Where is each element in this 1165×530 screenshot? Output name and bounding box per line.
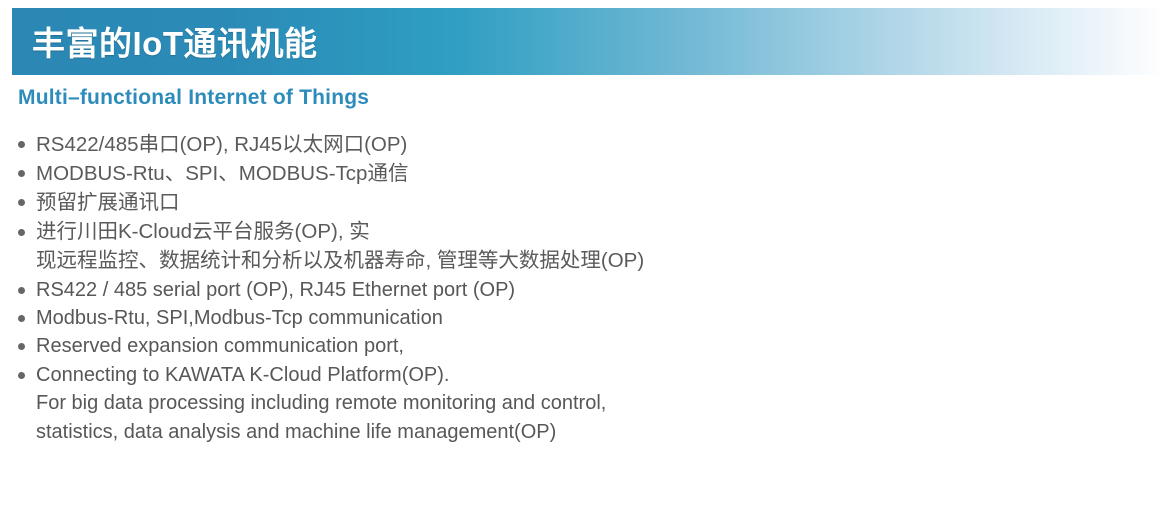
list-item-text: Connecting to KAWATA K-Cloud Platform(OP… xyxy=(36,361,1154,389)
bullet-dot-icon xyxy=(18,229,25,236)
slide-root: 丰富的IoT通讯机能 Multi–functional Internet of … xyxy=(0,0,1165,530)
list-item: RS422 / 485 serial port (OP), RJ45 Ether… xyxy=(14,276,1154,304)
feature-bullet-list: RS422/485串口(OP), RJ45以太网口(OP)MODBUS-Rtu、… xyxy=(14,130,1154,446)
page-title: 丰富的IoT通讯机能 xyxy=(32,17,317,65)
list-item: 进行川田K-Cloud云平台服务(OP), 实现远程监控、数据统计和分析以及机器… xyxy=(14,217,1154,275)
bullet-dot-icon xyxy=(18,141,25,148)
list-item-text: RS422/485串口(OP), RJ45以太网口(OP) xyxy=(36,130,1154,159)
list-item-continuation: statistics, data analysis and machine li… xyxy=(36,418,1154,446)
bullet-dot-icon xyxy=(18,287,25,294)
list-item-continuation: For big data processing including remote… xyxy=(36,389,1154,417)
list-item-text: 预留扩展通讯口 xyxy=(36,188,1154,217)
bullet-dot-icon xyxy=(18,170,25,177)
bullet-dot-icon xyxy=(18,343,25,350)
list-item-text: 进行川田K-Cloud云平台服务(OP), 实 xyxy=(36,217,1154,246)
list-item: Connecting to KAWATA K-Cloud Platform(OP… xyxy=(14,361,1154,446)
list-item: MODBUS-Rtu、SPI、MODBUS-Tcp通信 xyxy=(14,159,1154,188)
list-item: RS422/485串口(OP), RJ45以太网口(OP) xyxy=(14,130,1154,159)
list-item: Reserved expansion communication port, xyxy=(14,332,1154,360)
list-item-text: RS422 / 485 serial port (OP), RJ45 Ether… xyxy=(36,276,1154,304)
list-item: Modbus-Rtu, SPI,Modbus-Tcp communication xyxy=(14,304,1154,332)
header-banner: 丰富的IoT通讯机能 xyxy=(12,8,1165,75)
list-item-text: MODBUS-Rtu、SPI、MODBUS-Tcp通信 xyxy=(36,159,1154,188)
list-item-text: Modbus-Rtu, SPI,Modbus-Tcp communication xyxy=(36,304,1154,332)
bullet-dot-icon xyxy=(18,372,25,379)
bullet-dot-icon xyxy=(18,199,25,206)
bullet-dot-icon xyxy=(18,315,25,322)
list-item-continuation: 现远程监控、数据统计和分析以及机器寿命, 管理等大数据处理(OP) xyxy=(36,246,1154,275)
list-item-text: Reserved expansion communication port, xyxy=(36,332,1154,360)
list-item: 预留扩展通讯口 xyxy=(14,188,1154,217)
subtitle: Multi–functional Internet of Things xyxy=(18,86,369,110)
